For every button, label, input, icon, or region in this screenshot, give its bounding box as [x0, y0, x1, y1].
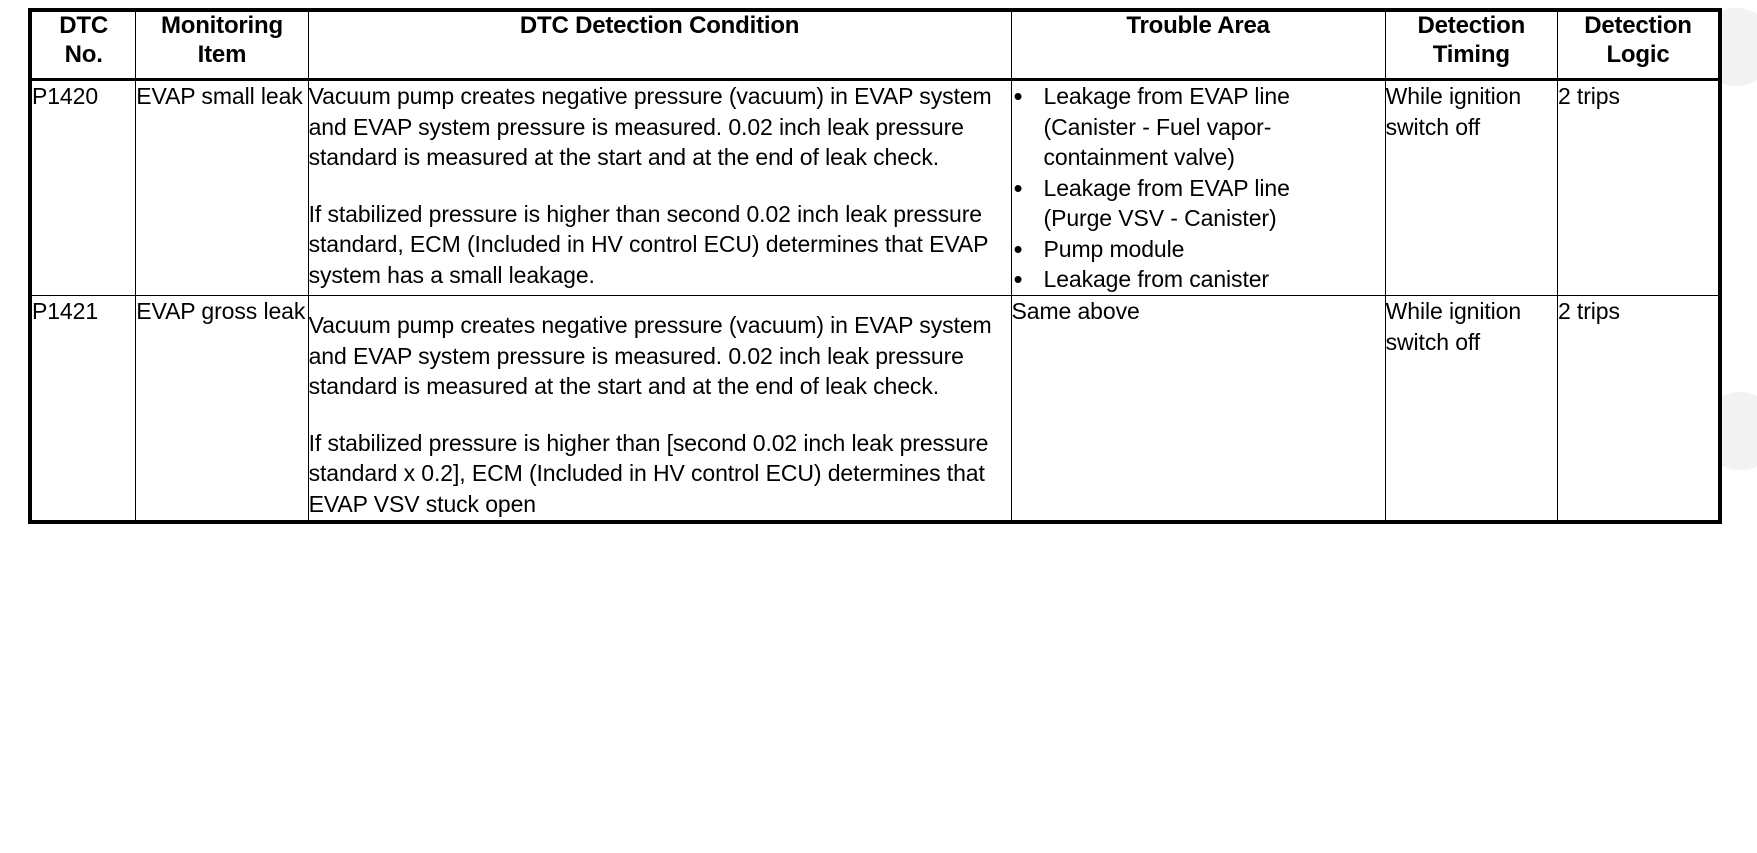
- header-line-1: DTC: [59, 12, 108, 39]
- header-line-1: Detection: [1584, 12, 1692, 39]
- list-item: Leakage from EVAP line: [1012, 81, 1385, 112]
- list-item-detail: (Canister - Fuel vapor-containment valve…: [1012, 112, 1385, 173]
- header-line-2: Logic: [1606, 41, 1669, 68]
- header-line-2: Item: [198, 41, 247, 68]
- cell-detection-condition: Vacuum pump creates negative pressure (v…: [308, 296, 1011, 520]
- table-row: P1421 EVAP gross leak Vacuum pump create…: [32, 296, 1719, 520]
- list-item-detail: (Purge VSV - Canister): [1012, 203, 1385, 234]
- column-header-dtc-detection-condition: DTC Detection Condition: [308, 12, 1011, 80]
- cell-detection-timing: While ignition switch off: [1385, 296, 1557, 520]
- cell-dtc-no: P1421: [32, 296, 136, 520]
- cell-detection-timing: While ignition switch off: [1385, 80, 1557, 296]
- cell-trouble-area: Leakage from EVAP line (Canister - Fuel …: [1011, 80, 1385, 296]
- column-header-dtc-no: DTC No.: [32, 12, 136, 80]
- table-header: DTC No. Monitoring Item DTC Detection Co…: [32, 12, 1719, 80]
- cell-detection-condition: Vacuum pump creates negative pressure (v…: [308, 80, 1011, 296]
- cell-dtc-no: P1420: [32, 80, 136, 296]
- header-line-1: Monitoring: [161, 12, 283, 39]
- column-header-monitoring-item: Monitoring Item: [136, 12, 308, 80]
- column-header-detection-timing: Detection Timing: [1385, 12, 1557, 80]
- condition-paragraph: Vacuum pump creates negative pressure (v…: [309, 81, 1011, 173]
- table-row: P1420 EVAP small leak Vacuum pump create…: [32, 80, 1719, 296]
- paragraph-spacer: [309, 402, 1011, 428]
- dtc-table-sheet: DTC No. Monitoring Item DTC Detection Co…: [31, 11, 1719, 521]
- list-item: Pump module: [1012, 234, 1385, 265]
- dtc-table: DTC No. Monitoring Item DTC Detection Co…: [31, 11, 1719, 521]
- trouble-area-list: Leakage from EVAP line (Canister - Fuel …: [1012, 81, 1385, 295]
- condition-paragraph: Vacuum pump creates negative pressure (v…: [309, 310, 1011, 402]
- condition-paragraph: If stabilized pressure is higher than [s…: [309, 428, 1011, 520]
- cell-monitoring-item: EVAP small leak: [136, 80, 308, 296]
- list-item: Leakage from canister: [1012, 264, 1385, 295]
- header-line-2: No.: [65, 41, 103, 68]
- column-header-detection-logic: Detection Logic: [1557, 12, 1718, 80]
- column-header-trouble-area: Trouble Area: [1011, 12, 1385, 80]
- list-item: Leakage from EVAP line: [1012, 173, 1385, 204]
- header-line-2: Timing: [1433, 41, 1510, 68]
- header-line-1: Detection: [1418, 12, 1526, 39]
- header-line-1: Trouble Area: [1126, 12, 1269, 39]
- cell-detection-logic: 2 trips: [1557, 80, 1718, 296]
- table-body: P1420 EVAP small leak Vacuum pump create…: [32, 80, 1719, 521]
- condition-paragraph: If stabilized pressure is higher than se…: [309, 199, 1011, 291]
- paragraph-spacer: [309, 173, 1011, 199]
- cell-detection-logic: 2 trips: [1557, 296, 1718, 520]
- header-row: DTC No. Monitoring Item DTC Detection Co…: [32, 12, 1719, 80]
- header-line-1: DTC Detection Condition: [520, 12, 799, 39]
- cell-monitoring-item: EVAP gross leak: [136, 296, 308, 520]
- cell-trouble-area: Same above: [1011, 296, 1385, 520]
